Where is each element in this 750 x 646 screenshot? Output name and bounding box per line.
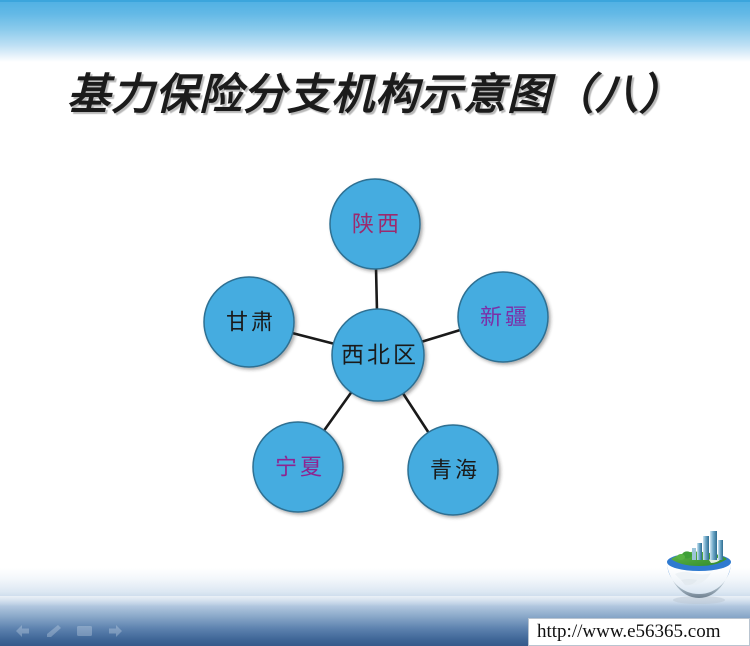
- connector-line: [420, 330, 462, 343]
- diagram-node-xinjiang[interactable]: 新疆: [458, 272, 548, 362]
- pen-icon[interactable]: [45, 624, 62, 638]
- website-url-text: http://www.e56365.com: [529, 621, 720, 643]
- diagram-nodes: 西北区陕西甘肃新疆宁夏青海: [204, 179, 548, 515]
- connector-line: [376, 267, 377, 311]
- node-label: 青海: [430, 458, 480, 483]
- earth-city-logo: [651, 528, 739, 606]
- diagram-node-shaanxi[interactable]: 陕西: [330, 179, 420, 269]
- node-label: 甘肃: [226, 310, 276, 335]
- connector-line: [323, 391, 352, 432]
- diagram-node-gansu[interactable]: 甘肃: [204, 277, 294, 367]
- diagram-node-ningxia[interactable]: 宁夏: [253, 422, 343, 512]
- node-label: 西北区: [341, 343, 419, 368]
- slideshow-nav-controls[interactable]: [14, 624, 124, 638]
- node-label: 宁夏: [275, 455, 325, 480]
- connector-line: [291, 333, 336, 344]
- diagram-node-qinghai[interactable]: 青海: [408, 425, 498, 515]
- screen-icon[interactable]: [76, 624, 93, 638]
- org-chart-diagram: 西北区陕西甘肃新疆宁夏青海: [0, 0, 750, 646]
- node-label: 新疆: [480, 305, 530, 330]
- node-label: 陕西: [352, 212, 402, 237]
- presentation-slide: 基力保险分支机构示意图（八） 西北区陕西甘肃新疆宁夏青海: [0, 0, 750, 646]
- connector-line: [402, 392, 429, 434]
- diagram-node-center[interactable]: 西北区: [332, 309, 424, 401]
- left-arrow-icon[interactable]: [14, 624, 31, 638]
- right-arrow-icon[interactable]: [107, 624, 124, 638]
- website-url-box[interactable]: http://www.e56365.com: [528, 618, 750, 646]
